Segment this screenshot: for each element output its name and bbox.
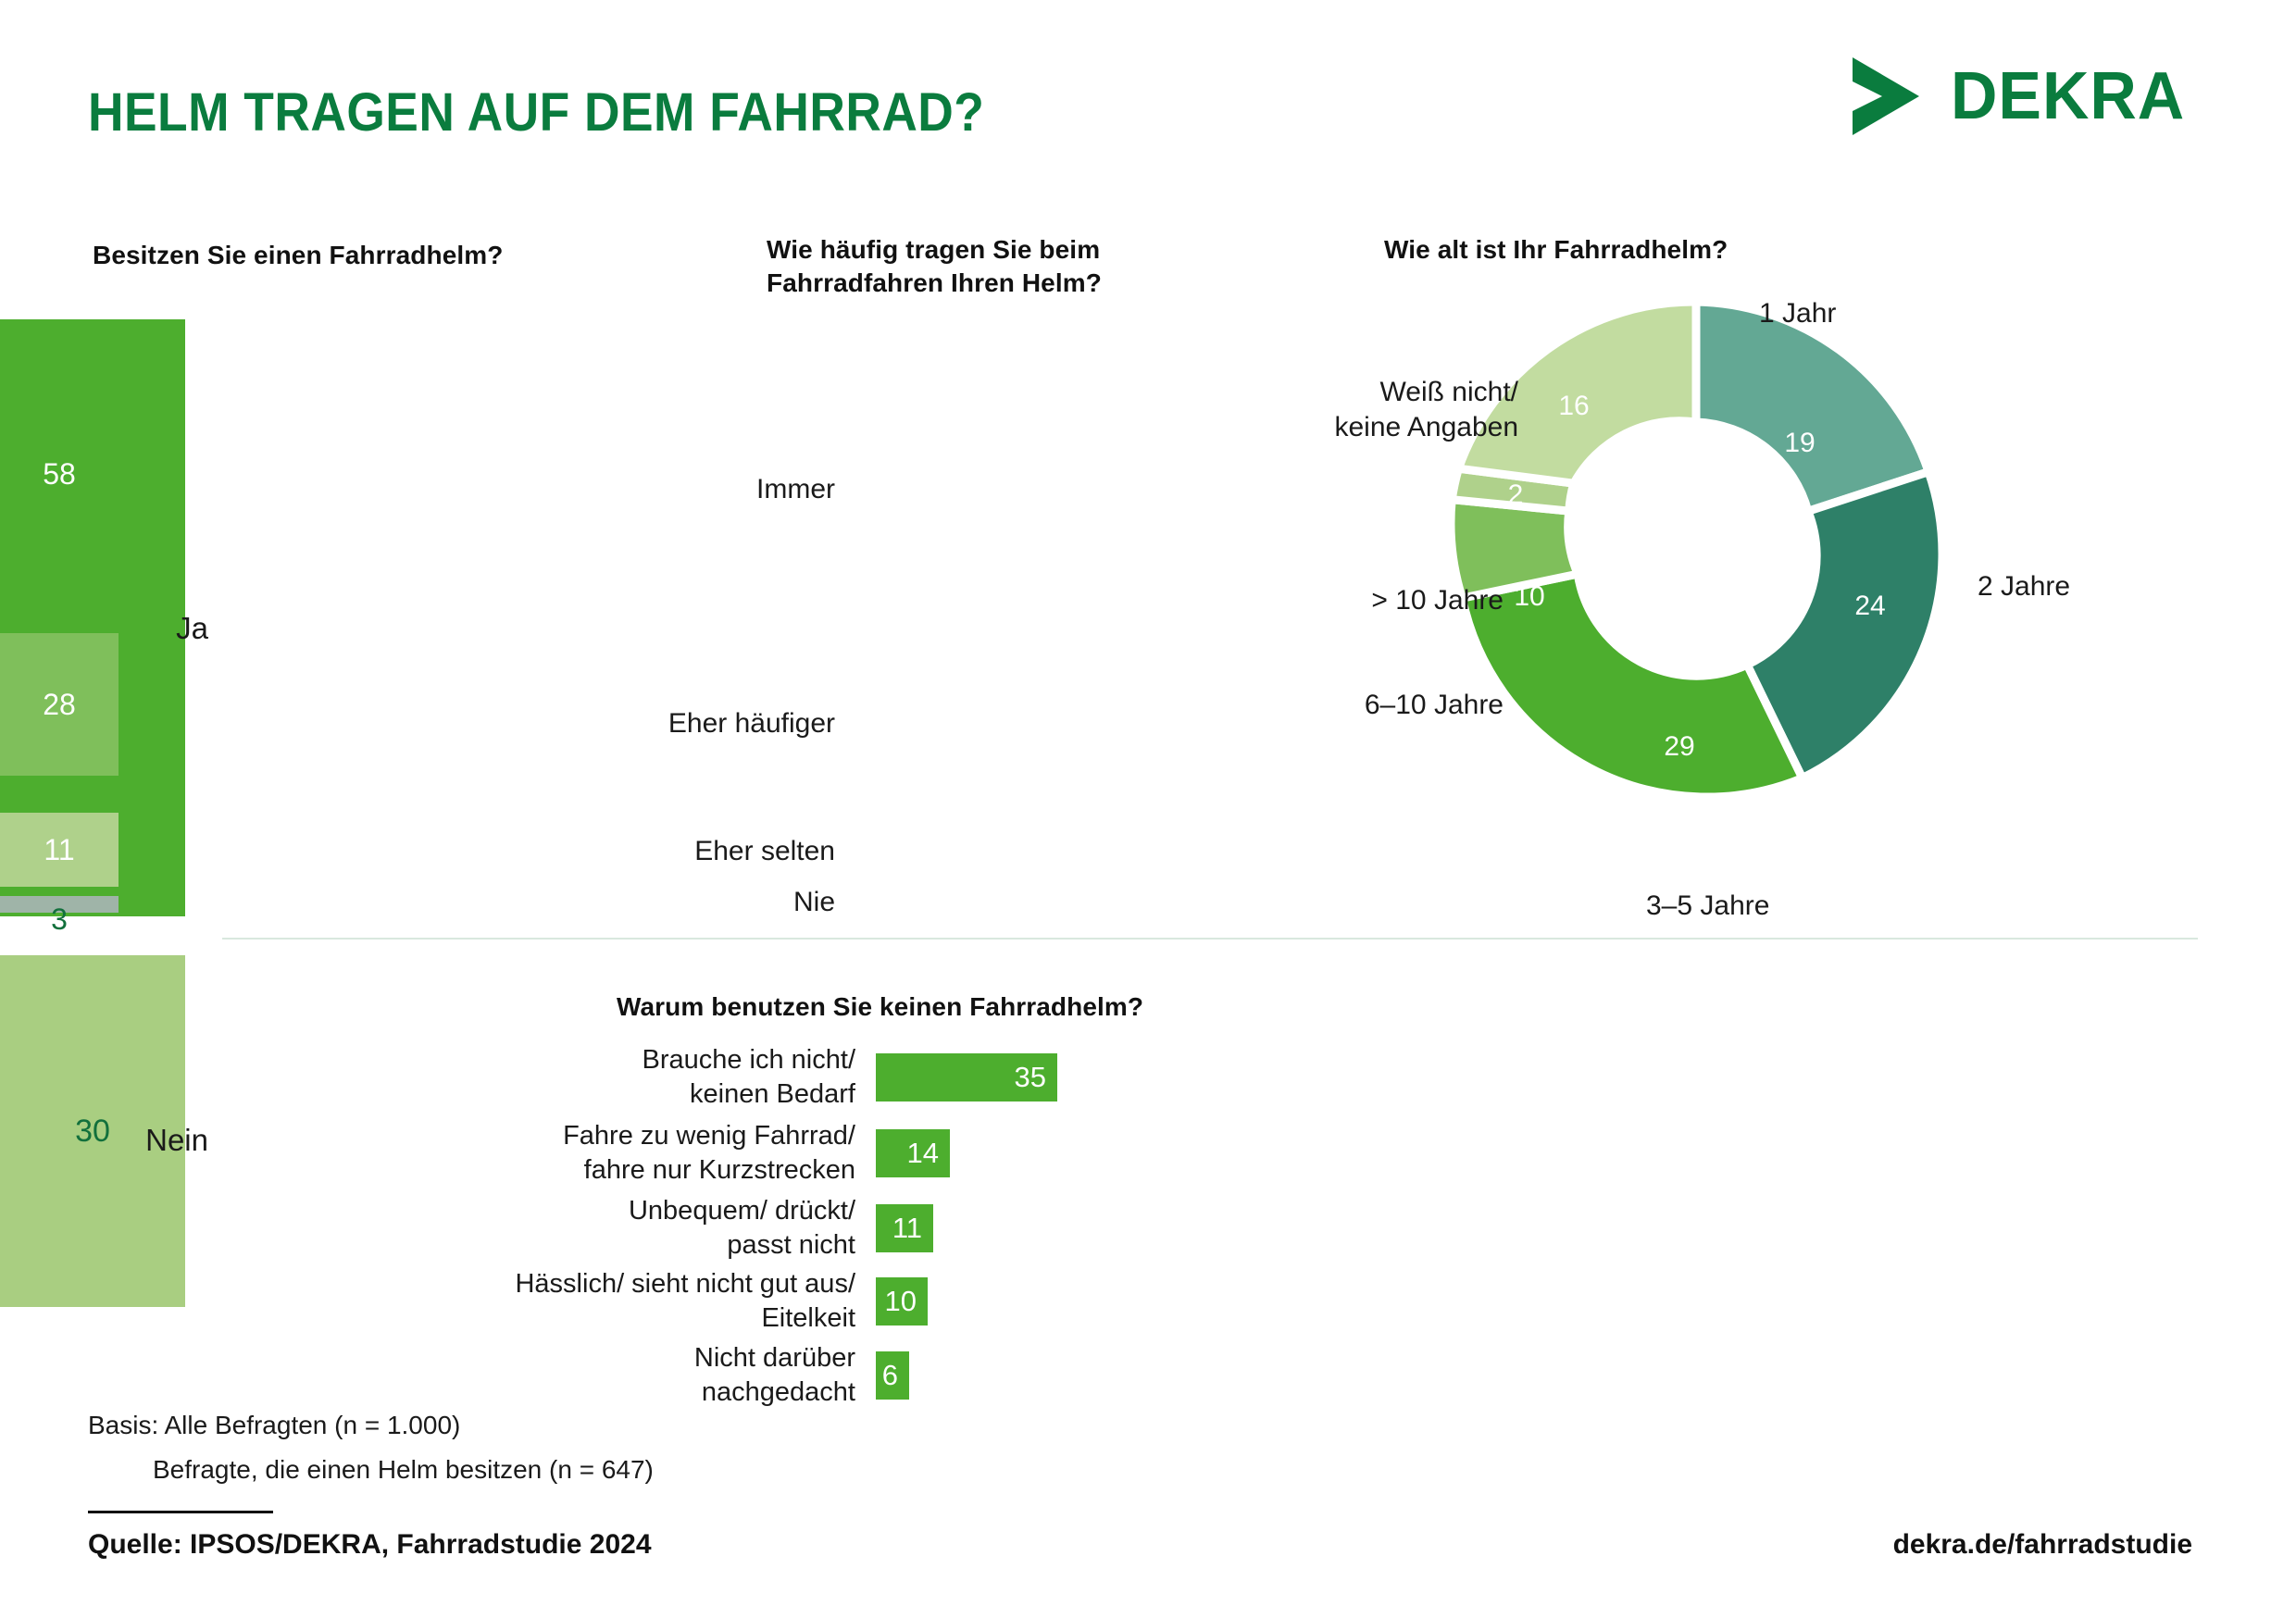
reason-value: 6: [882, 1359, 898, 1392]
bar-label-nie: Nie: [465, 887, 835, 918]
donut-label-weiss-nicht-line2: keine Angaben: [1334, 412, 1518, 442]
bar-label-nein: Nein: [93, 1123, 208, 1158]
infographic-page: HELM TRAGEN AUF DEM FAHRRAD? DEKRA Besit…: [0, 0, 2296, 1618]
bar-label-immer: Immer: [465, 474, 835, 505]
reason-label-line1: Unbequem/ drückt/: [629, 1196, 855, 1226]
donut-label-weiss-nicht: Weiß nicht/ keine Angaben: [1268, 375, 1518, 446]
donut-value-3-5-jahre: 29: [1664, 731, 1694, 762]
reason-label-line2: keinen Bedarf: [690, 1079, 855, 1109]
donut-label-gt-10-jahre: > 10 Jahre: [1299, 583, 1504, 618]
donut-value-gt-10-jahre: 2: [1508, 479, 1524, 510]
reason-row: Hässlich/ sieht nicht gut aus/ Eitelkeit…: [481, 1265, 1315, 1338]
donut-label-2-jahre: 2 Jahre: [1978, 569, 2070, 604]
reason-label-line1: Fahre zu wenig Fahrrad/: [563, 1121, 855, 1151]
section-divider: [222, 938, 2198, 940]
page-title: HELM TRAGEN AUF DEM FAHRRAD?: [88, 81, 984, 143]
bar-label-eher-selten: Eher selten: [465, 836, 835, 867]
reason-label-line2: nachgedacht: [702, 1377, 855, 1407]
footer-rule: [88, 1511, 273, 1513]
bar-value-immer: 58: [43, 457, 76, 492]
reason-bar: 10: [876, 1277, 928, 1326]
chart-helmet-age-title: Wie alt ist Ihr Fahrradhelm?: [1384, 233, 1728, 267]
reason-label: Brauche ich nicht/ keinen Bedarf: [481, 1043, 876, 1111]
reason-row: Brauche ich nicht/ keinen Bedarf 35: [481, 1041, 1315, 1114]
donut-value-1-jahr: 19: [1784, 428, 1815, 458]
basis-note-owners: Befragte, die einen Helm besitzen (n = 6…: [153, 1455, 654, 1485]
study-url[interactable]: dekra.de/fahrradstudie: [1893, 1529, 2192, 1561]
helmet-age-donut-chart: 19 24 29 10 2 16: [1437, 292, 1955, 811]
donut-label-weiss-nicht-line1: Weiß nicht/: [1380, 377, 1519, 407]
reason-label: Nicht darüber nachgedacht: [481, 1341, 876, 1409]
donut-value-weiss-nicht: 16: [1558, 391, 1589, 421]
chart-reasons-title: Warum benutzen Sie keinen Fahrradhelm?: [617, 990, 1143, 1024]
reason-bar: 6: [876, 1351, 909, 1400]
reason-value: 35: [1015, 1061, 1046, 1094]
bar-value-eher-selten: 11: [44, 833, 74, 867]
reason-label-line2: fahre nur Kurzstrecken: [584, 1155, 855, 1185]
reason-bar: 35: [876, 1053, 1057, 1101]
donut-value-2-jahre: 24: [1854, 591, 1885, 621]
chart-ownership-title: Besitzen Sie einen Fahrradhelm?: [93, 239, 503, 272]
reason-label-line2: Eitelkeit: [761, 1303, 855, 1333]
reason-label-line1: Nicht darüber: [694, 1343, 855, 1373]
reason-row: Nicht darüber nachgedacht 6: [481, 1339, 1315, 1412]
bar-segment-eher-haeufiger: 28: [0, 633, 119, 776]
bar-segment-nie: 3: [0, 896, 119, 913]
reason-label: Fahre zu wenig Fahrrad/ fahre nur Kurzst…: [481, 1119, 876, 1187]
reason-label-line1: Brauche ich nicht/: [642, 1045, 855, 1075]
reason-value: 11: [892, 1212, 922, 1245]
reason-label-line1: Hässlich/ sieht nicht gut aus/: [515, 1269, 855, 1299]
bar-segment-eher-selten: 11: [0, 813, 119, 887]
basis-note-all: Basis: Alle Befragten (n = 1.000): [88, 1411, 460, 1440]
donut-value-6-10-jahre: 10: [1514, 581, 1544, 612]
dekra-logo: DEKRA: [1847, 54, 2192, 139]
chart-frequency-title: Wie häufig tragen Sie beim Fahrradfahren…: [767, 233, 1202, 300]
dekra-wordmark: DEKRA: [1951, 63, 2185, 130]
reason-label-line2: passt nicht: [727, 1230, 855, 1260]
reason-bar: 11: [876, 1204, 933, 1252]
bar-value-nie: 3: [51, 902, 68, 937]
donut-label-6-10-jahre: 6–10 Jahre: [1318, 688, 1504, 723]
dekra-chevron-icon: [1847, 54, 1927, 139]
reason-label: Hässlich/ sieht nicht gut aus/ Eitelkeit: [481, 1267, 876, 1335]
source-note: Quelle: IPSOS/DEKRA, Fahrradstudie 2024: [88, 1529, 652, 1561]
bar-value-eher-haeufiger: 28: [43, 688, 76, 722]
reason-row: Fahre zu wenig Fahrrad/ fahre nur Kurzst…: [481, 1117, 1315, 1189]
reason-bar: 14: [876, 1129, 950, 1177]
reason-value: 14: [907, 1137, 939, 1170]
reason-row: Unbequem/ drückt/ passt nicht 11: [481, 1192, 1315, 1264]
bar-segment-immer: 58: [0, 319, 119, 629]
donut-label-3-5-jahre: 3–5 Jahre: [1646, 889, 1769, 924]
bar-label-eher-haeufiger: Eher häufiger: [465, 708, 835, 740]
donut-label-1-jahr: 1 Jahr: [1759, 296, 1836, 331]
reason-value: 10: [885, 1285, 917, 1318]
reason-label: Unbequem/ drückt/ passt nicht: [481, 1194, 876, 1262]
